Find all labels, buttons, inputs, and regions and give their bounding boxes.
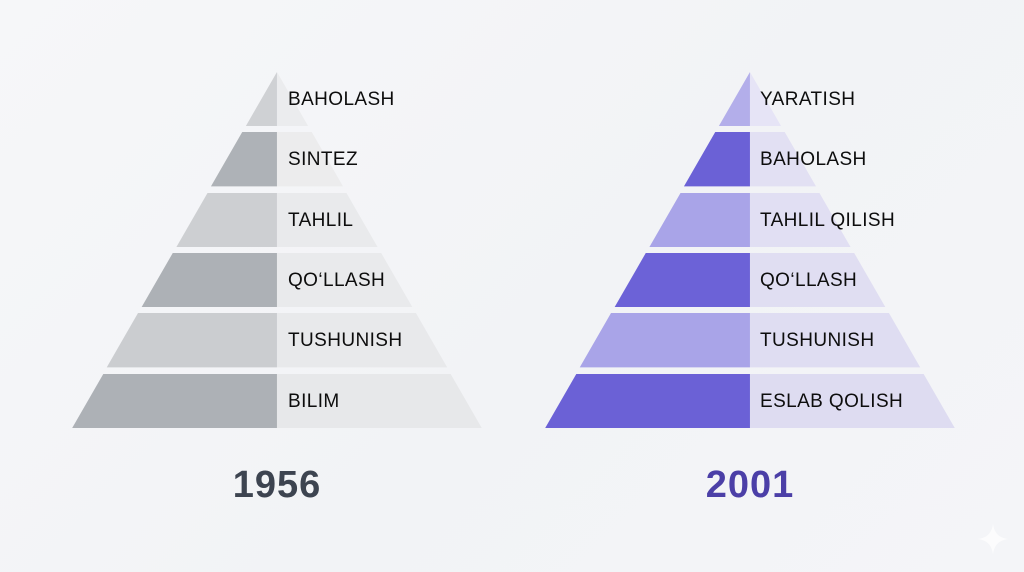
- pyramid-level-left-half: [649, 193, 750, 247]
- pyramid-1956: BAHOLASHSINTEZTAHLILQO‘LLASHTUSHUNISHBIL…: [72, 72, 482, 428]
- pyramid-level-label: TAHLIL: [288, 211, 353, 230]
- year-label-2001: 2001: [545, 466, 955, 504]
- pyramid-level-shape: [545, 132, 955, 186]
- pyramid-level[interactable]: BAHOLASH: [72, 72, 482, 126]
- pyramid-level[interactable]: QO‘LLASH: [72, 253, 482, 307]
- pyramid-level-left-half: [176, 193, 277, 247]
- pyramid-level-label: BAHOLASH: [760, 150, 867, 169]
- pyramid-level-shape: [545, 313, 955, 367]
- pyramid-level[interactable]: BILIM: [72, 374, 482, 428]
- pyramid-level-left-half: [72, 374, 277, 428]
- pyramid-level-left-half: [107, 313, 277, 367]
- pyramid-level[interactable]: BAHOLASH: [545, 132, 955, 186]
- pyramid-level-shape: [72, 193, 482, 247]
- pyramid-level-label: TAHLIL QILISH: [760, 211, 895, 230]
- pyramid-level[interactable]: TAHLIL: [72, 193, 482, 247]
- pyramid-level-shape: [72, 72, 482, 126]
- pyramid-comparison-stage: BAHOLASHSINTEZTAHLILQO‘LLASHTUSHUNISHBIL…: [0, 0, 1024, 572]
- pyramid-level-label: BAHOLASH: [288, 90, 395, 109]
- pyramid-level-left-half: [719, 72, 750, 126]
- pyramid-level-label: ESLAB QOLISH: [760, 392, 903, 411]
- pyramid-level-label: BILIM: [288, 392, 340, 411]
- pyramid-level-label: QO‘LLASH: [288, 271, 385, 290]
- pyramid-level-label: TUSHUNISH: [760, 331, 874, 350]
- pyramid-level[interactable]: ESLAB QOLISH: [545, 374, 955, 428]
- pyramid-level[interactable]: QO‘LLASH: [545, 253, 955, 307]
- pyramid-level-shape: [545, 72, 955, 126]
- pyramid-level-shape: [72, 374, 482, 428]
- year-label-1956: 1956: [72, 466, 482, 504]
- pyramid-level-label: QO‘LLASH: [760, 271, 857, 290]
- pyramid-level[interactable]: YARATISH: [545, 72, 955, 126]
- pyramid-level[interactable]: TUSHUNISH: [72, 313, 482, 367]
- pyramid-level-left-half: [614, 253, 749, 307]
- pyramid-level-label: TUSHUNISH: [288, 331, 402, 350]
- pyramid-level-shape: [72, 253, 482, 307]
- sparkle-icon: [976, 522, 1010, 556]
- pyramid-2001: YARATISHBAHOLASHTAHLIL QILISHQO‘LLASHTUS…: [545, 72, 955, 428]
- pyramid-level[interactable]: TUSHUNISH: [545, 313, 955, 367]
- pyramid-level[interactable]: SINTEZ: [72, 132, 482, 186]
- pyramid-level-left-half: [684, 132, 750, 186]
- pyramid-level-left-half: [141, 253, 276, 307]
- pyramid-level-label: SINTEZ: [288, 150, 358, 169]
- pyramid-level-left-half: [545, 374, 750, 428]
- pyramid-level-left-half: [246, 72, 277, 126]
- pyramid-level-shape: [545, 253, 955, 307]
- pyramid-level[interactable]: TAHLIL QILISH: [545, 193, 955, 247]
- pyramid-level-label: YARATISH: [760, 90, 855, 109]
- pyramid-level-shape: [72, 132, 482, 186]
- pyramid-level-left-half: [580, 313, 750, 367]
- pyramid-level-left-half: [211, 132, 277, 186]
- pyramid-level-shape: [72, 313, 482, 367]
